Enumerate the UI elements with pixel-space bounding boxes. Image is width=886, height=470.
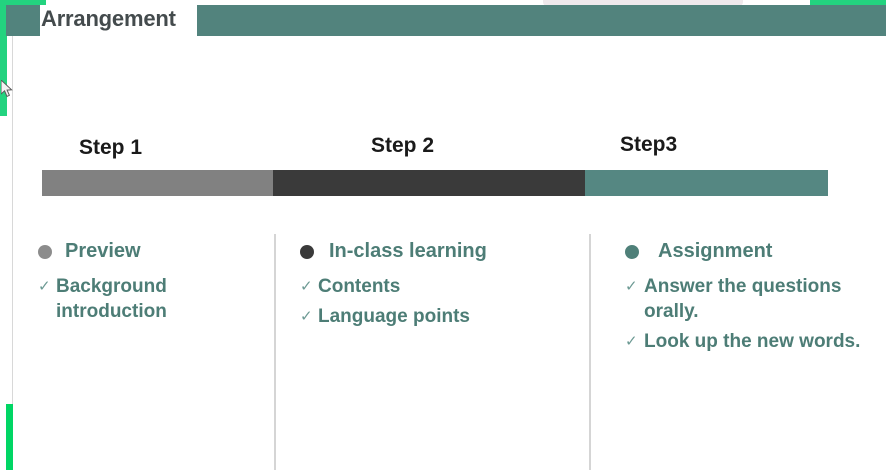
column-heading-label: Assignment — [658, 240, 772, 263]
step-bar-segment-2 — [273, 170, 585, 196]
step-column-1: Preview ✓ Background introduction — [38, 240, 263, 329]
list-item-label: Answer the questions orally. — [644, 274, 880, 324]
check-icon: ✓ — [38, 274, 53, 299]
list-item: ✓ Language points — [300, 304, 580, 329]
accent-bar-left-bottom — [6, 404, 13, 470]
column-heading-row: Assignment — [625, 240, 880, 263]
column-heading-label: In-class learning — [329, 240, 487, 263]
step-label-2: Step 2 — [371, 134, 434, 158]
step-column-3: Assignment ✓ Answer the questions orally… — [625, 240, 880, 359]
list-item: ✓ Look up the new words. — [625, 329, 880, 354]
column-heading-row: Preview — [38, 240, 263, 263]
list-item: ✓ Answer the questions orally. — [625, 274, 880, 324]
list-item-label: Background introduction — [56, 274, 263, 324]
column-heading-row: In-class learning — [300, 240, 580, 263]
list-item-label: Contents — [318, 274, 400, 299]
bullet-icon — [300, 245, 314, 259]
bullet-icon — [38, 245, 52, 259]
frame-hairline — [12, 0, 13, 470]
list-item-label: Look up the new words. — [644, 329, 860, 354]
list-item: ✓ Background introduction — [38, 274, 263, 324]
column-divider-2 — [589, 234, 591, 470]
page-title: Arrangement — [41, 4, 211, 34]
check-icon: ✓ — [625, 329, 640, 354]
list-item-label: Language points — [318, 304, 470, 329]
bullet-icon — [625, 245, 639, 259]
step-column-2: In-class learning ✓ Contents ✓ Language … — [300, 240, 580, 334]
mouse-pointer-icon — [1, 80, 14, 98]
step-bar-segment-1 — [42, 170, 273, 196]
column-heading-label: Preview — [65, 240, 141, 263]
check-icon: ✓ — [300, 274, 315, 299]
check-icon: ✓ — [300, 304, 315, 329]
column-divider-1 — [274, 234, 276, 470]
step-progress-bar — [42, 170, 828, 196]
step-label-1: Step 1 — [79, 136, 142, 160]
check-icon: ✓ — [625, 274, 640, 299]
list-item: ✓ Contents — [300, 274, 580, 299]
step-bar-segment-3 — [585, 170, 828, 196]
presentation-slide: Arrangement Step 1 Step 2 Step3 Preview … — [0, 0, 886, 470]
step-label-3: Step3 — [620, 133, 677, 157]
